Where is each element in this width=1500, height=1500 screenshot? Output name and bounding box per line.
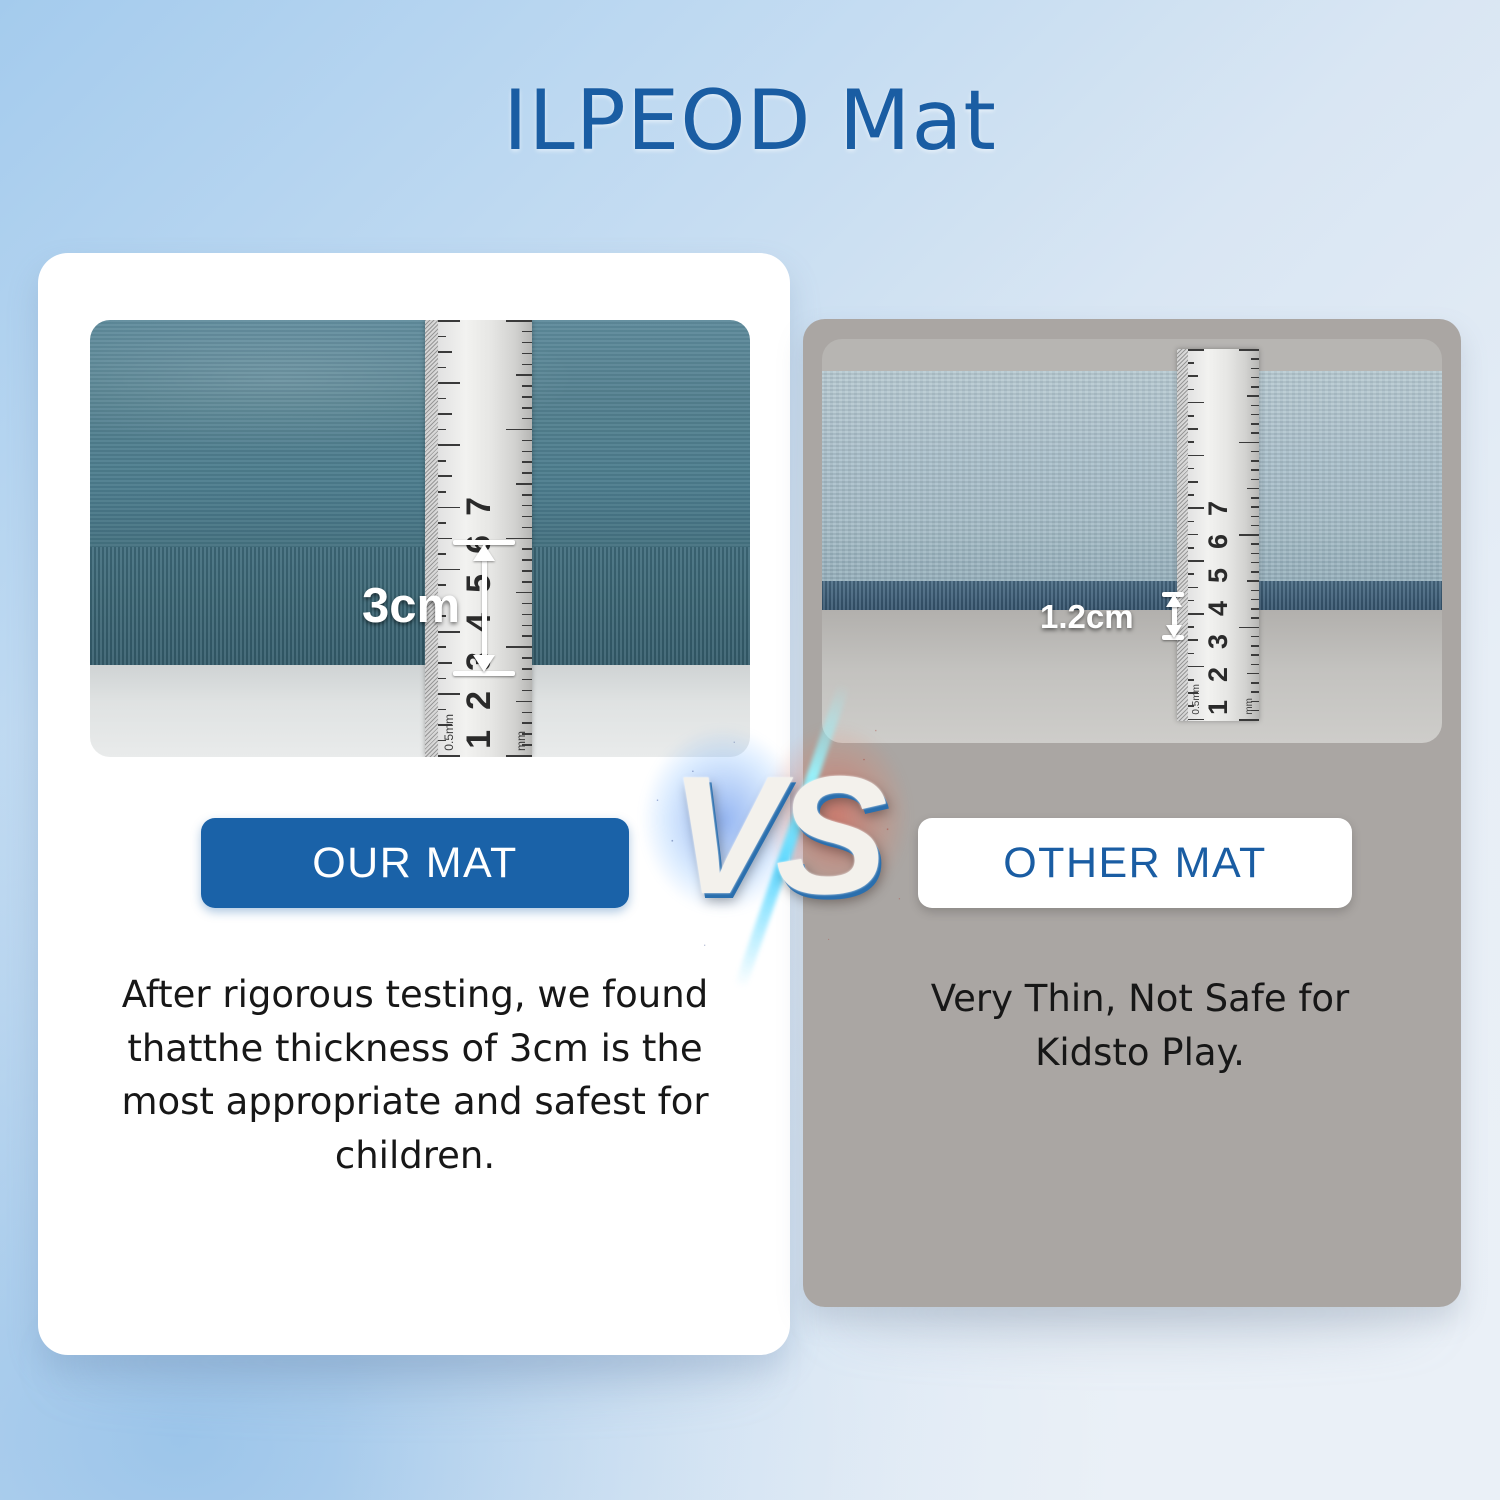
other-mat-label-pill[interactable]: OTHER MAT: [918, 818, 1352, 908]
ruler-unit-left: 0.5mm: [442, 714, 456, 751]
ruler-number: 5: [1205, 568, 1232, 583]
our-mat-label-pill[interactable]: OUR MAT: [201, 818, 629, 908]
our-mat-description: After rigorous testing, we found thatthe…: [110, 968, 720, 1183]
our-thickness-value: 3cm: [362, 578, 460, 634]
ruler-number: 6: [1205, 534, 1232, 549]
ruler-number: 2: [1205, 667, 1232, 682]
other-mat-photo: 1 2 3 4 5 6 7 0.5mm mm 1.2cm: [822, 339, 1442, 743]
ruler-numbers: 1 2 3 4 5 6 7: [425, 320, 532, 757]
ruler-numbers: 1 2 3 4 5 6 7: [1177, 349, 1259, 721]
ruler-number: 1: [1205, 700, 1232, 715]
other-ruler: 1 2 3 4 5 6 7 0.5mm mm: [1177, 349, 1259, 721]
ruler-number: 3: [1205, 634, 1232, 649]
other-thickness-callout: 1.2cm: [1054, 592, 1184, 640]
page-title: ILPEOD Mat: [0, 72, 1500, 169]
our-mat-photo: 1 2 3 4 5 6 7 0.5mm mm 3cm: [90, 320, 750, 757]
ruler-unit-left: 0.5mm: [1191, 684, 1202, 715]
other-mat-surface: [822, 371, 1442, 585]
other-photo-top-band: [822, 339, 1442, 375]
other-mat-description: Very Thin, Not Safe for Kidsto Play.: [880, 972, 1400, 1079]
double-arrow-icon: [1165, 594, 1183, 638]
ruler-number: 7: [462, 497, 496, 516]
our-mat-label-text: OUR MAT: [312, 839, 518, 888]
ruler-number: 4: [1205, 601, 1232, 616]
our-thickness-callout: 3cm: [365, 540, 515, 676]
ruler-number: 7: [1205, 501, 1232, 516]
ruler-number: 2: [462, 691, 496, 710]
other-mat-label-text: OTHER MAT: [1003, 839, 1267, 888]
ruler-unit-right: mm: [514, 731, 528, 751]
our-mat-surface: [90, 320, 750, 552]
double-arrow-icon: [473, 544, 495, 672]
ruler-unit-right: mm: [1244, 698, 1255, 715]
our-ruler: 1 2 3 4 5 6 7 0.5mm mm: [425, 320, 532, 757]
other-thickness-value: 1.2cm: [1040, 598, 1134, 636]
our-photo-floor: [90, 665, 750, 757]
ruler-number: 1: [462, 730, 496, 749]
infographic-canvas: ILPEOD Mat: [0, 0, 1500, 1500]
